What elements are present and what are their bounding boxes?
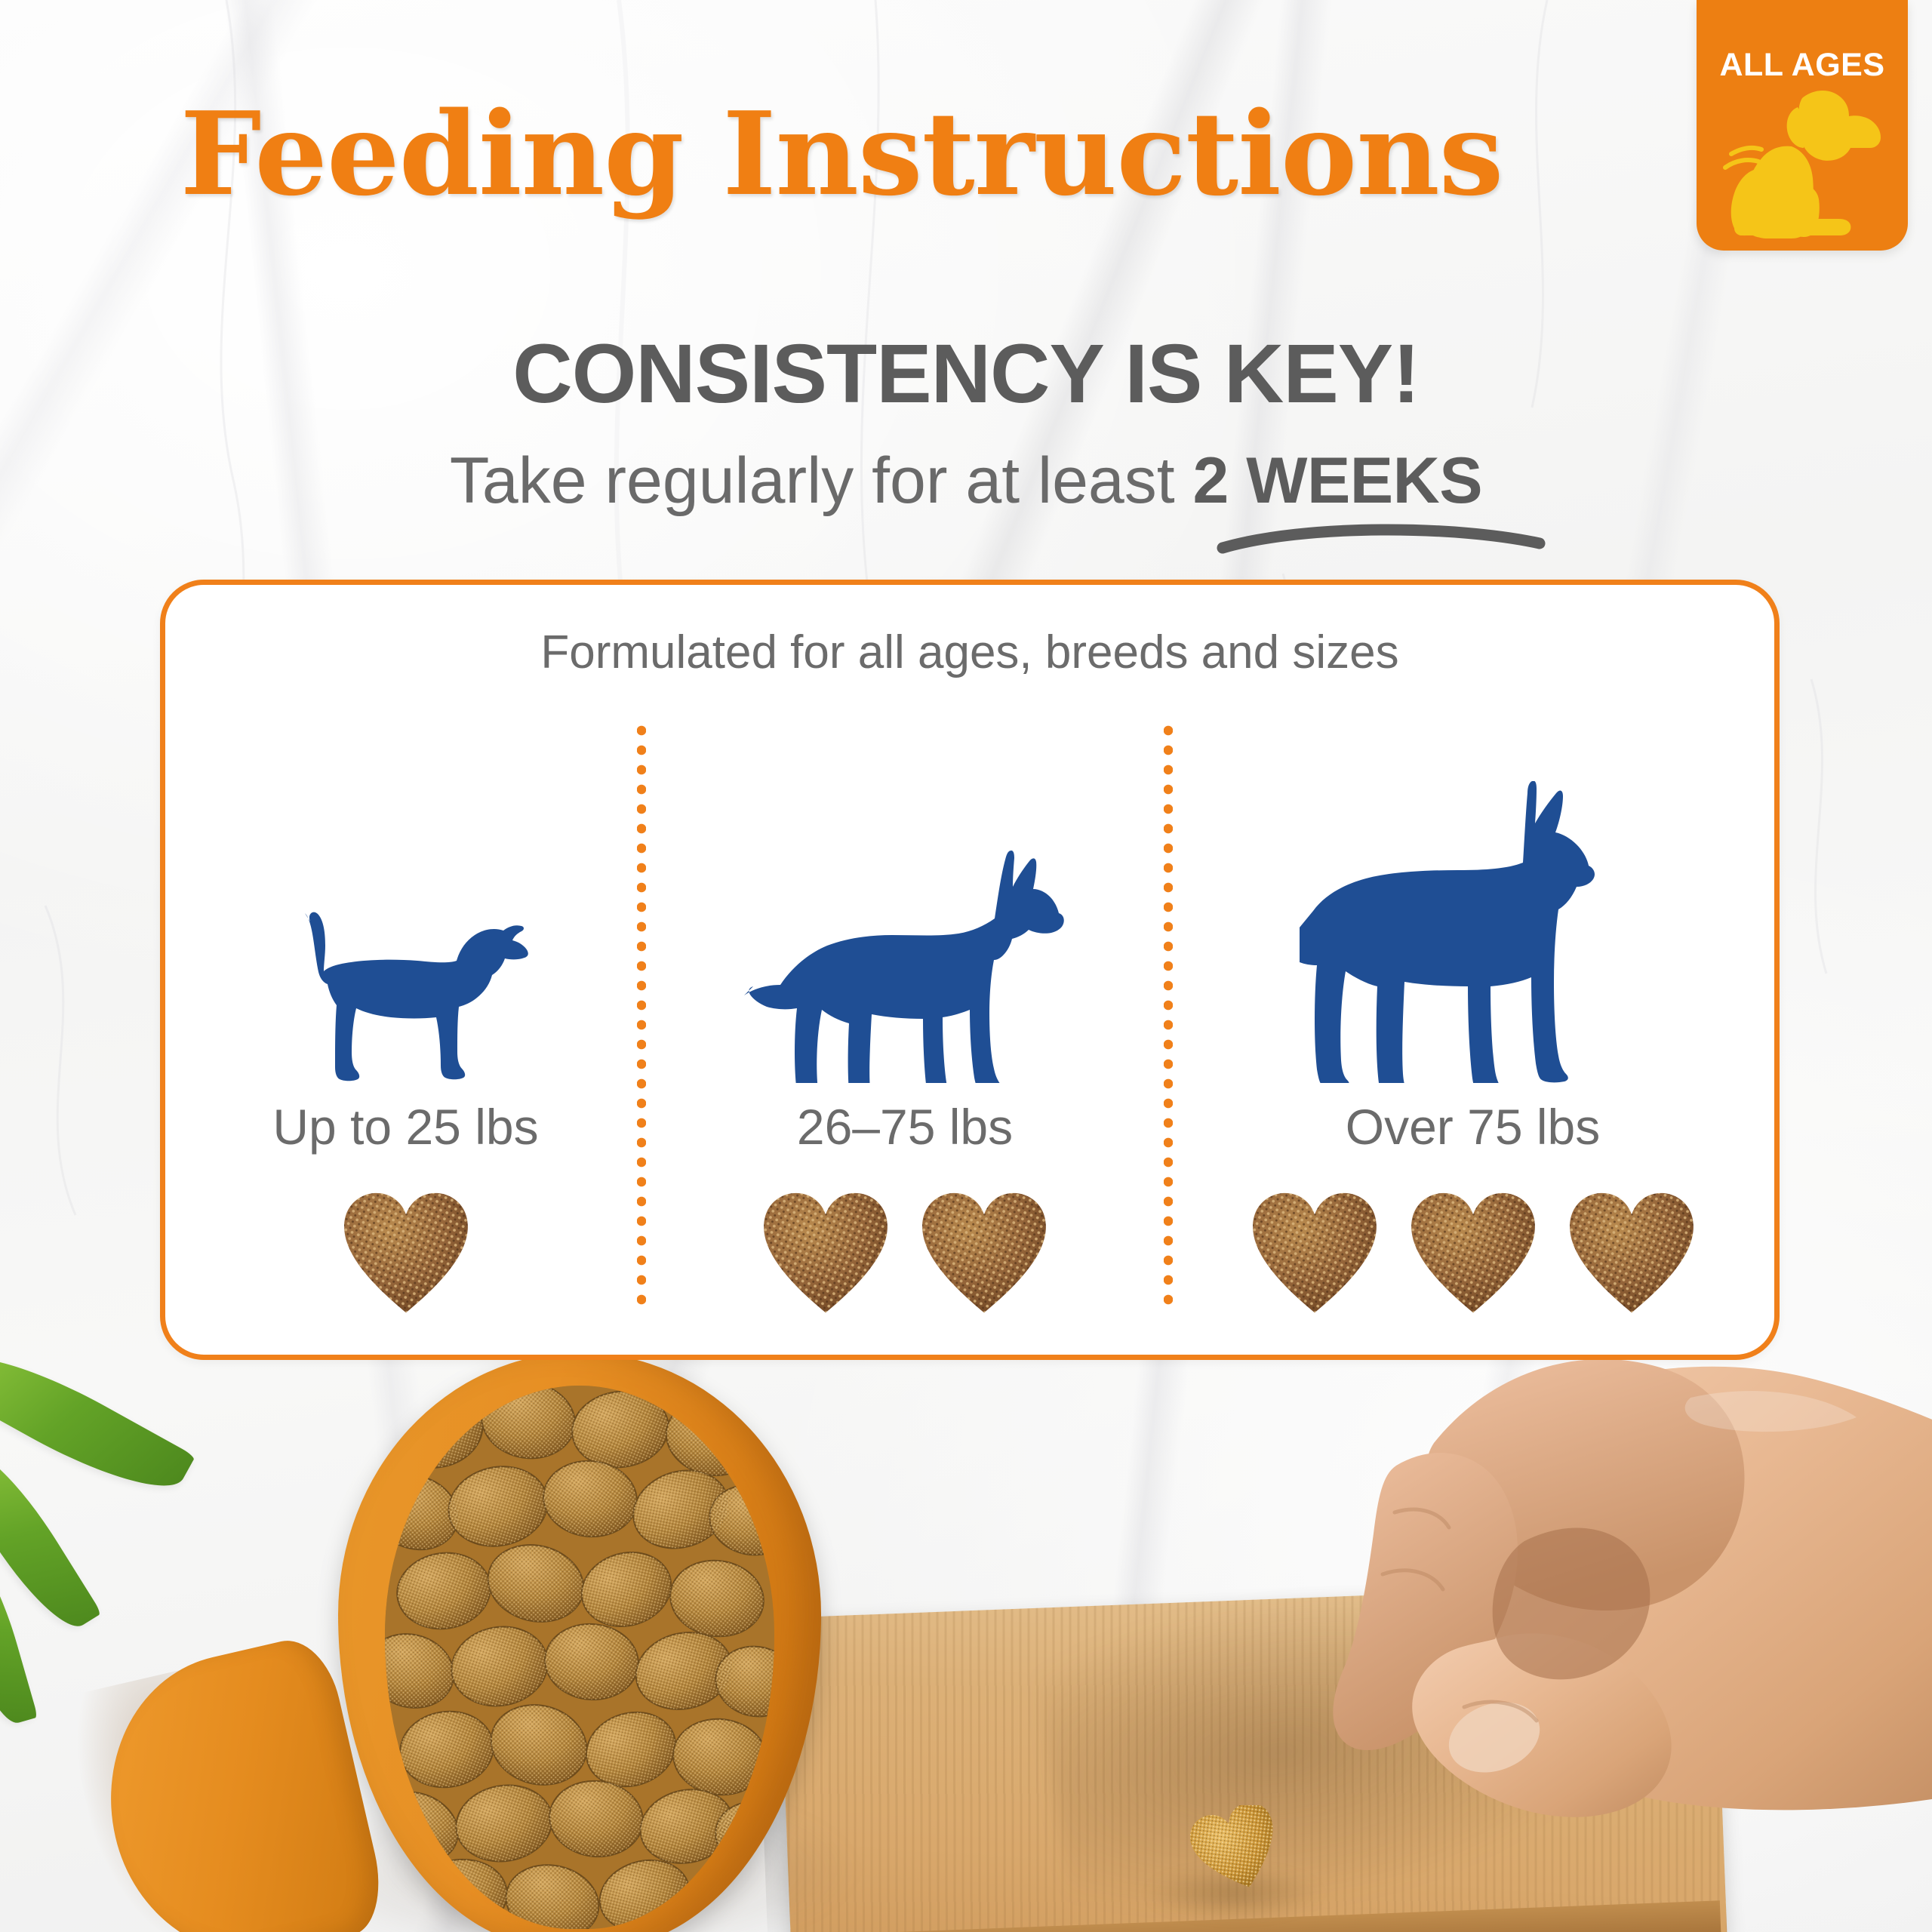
product-photo — [0, 1360, 1932, 1932]
dog-slot — [1173, 691, 1773, 1083]
page-title: Feeding Instructions — [0, 97, 1683, 211]
badge-label: ALL AGES — [1697, 47, 1908, 84]
all-ages-badge: ALL AGES — [1697, 0, 1908, 251]
underline-arc-icon — [1215, 518, 1547, 558]
kibble-row-small — [174, 1189, 637, 1318]
dog-slot — [646, 691, 1164, 1083]
card-note: Formulated for all ages, breeds and size… — [165, 626, 1774, 679]
headline: CONSISTENCY IS KEY! — [0, 326, 1932, 422]
size-label: 26–75 lbs — [646, 1098, 1164, 1155]
orange-measuring-scoop — [338, 1360, 821, 1932]
kibble-heart-icon — [917, 1189, 1051, 1318]
kibble-heart-icon — [1564, 1189, 1699, 1318]
column-divider-1 — [637, 721, 646, 1309]
subline-strong: 2 WEEKS — [1193, 445, 1483, 517]
green-leaf — [0, 1434, 102, 1642]
size-label: Over 75 lbs — [1173, 1098, 1773, 1155]
size-column-large: Over 75 lbs — [1173, 691, 1773, 1340]
kibble-pile — [385, 1386, 774, 1929]
hand-holding-kibble — [1041, 1360, 1932, 1932]
kibble-heart-icon — [1406, 1189, 1540, 1318]
kibble-row-medium — [646, 1189, 1164, 1318]
green-leaf — [0, 1360, 195, 1512]
column-divider-2 — [1164, 721, 1173, 1309]
subline-wrap: Take regularly for at least 2 WEEKS — [0, 444, 1932, 518]
subline: Take regularly for at least 2 WEEKS — [450, 444, 1482, 518]
size-label: Up to 25 lbs — [174, 1098, 637, 1155]
large-dog-silhouette-icon — [1300, 781, 1647, 1083]
size-column-small: Up to 25 lbs — [174, 691, 637, 1340]
medium-dog-silhouette-icon — [743, 834, 1067, 1083]
kibble-heart-icon — [339, 1189, 473, 1318]
sitting-dog-icon — [1713, 82, 1891, 240]
subline-prefix: Take regularly for at least — [450, 445, 1193, 517]
dog-slot — [174, 691, 637, 1083]
kibble-row-large — [1173, 1189, 1773, 1318]
kibble-heart-icon — [1247, 1189, 1382, 1318]
kibble-heart-icon — [758, 1189, 893, 1318]
feeding-chart-card: Formulated for all ages, breeds and size… — [160, 580, 1780, 1360]
small-dog-silhouette-icon — [281, 894, 531, 1083]
held-kibble-heart-icon — [1189, 1805, 1284, 1893]
size-column-medium: 26–75 lbs — [646, 691, 1164, 1340]
scoop-interior — [385, 1386, 774, 1929]
